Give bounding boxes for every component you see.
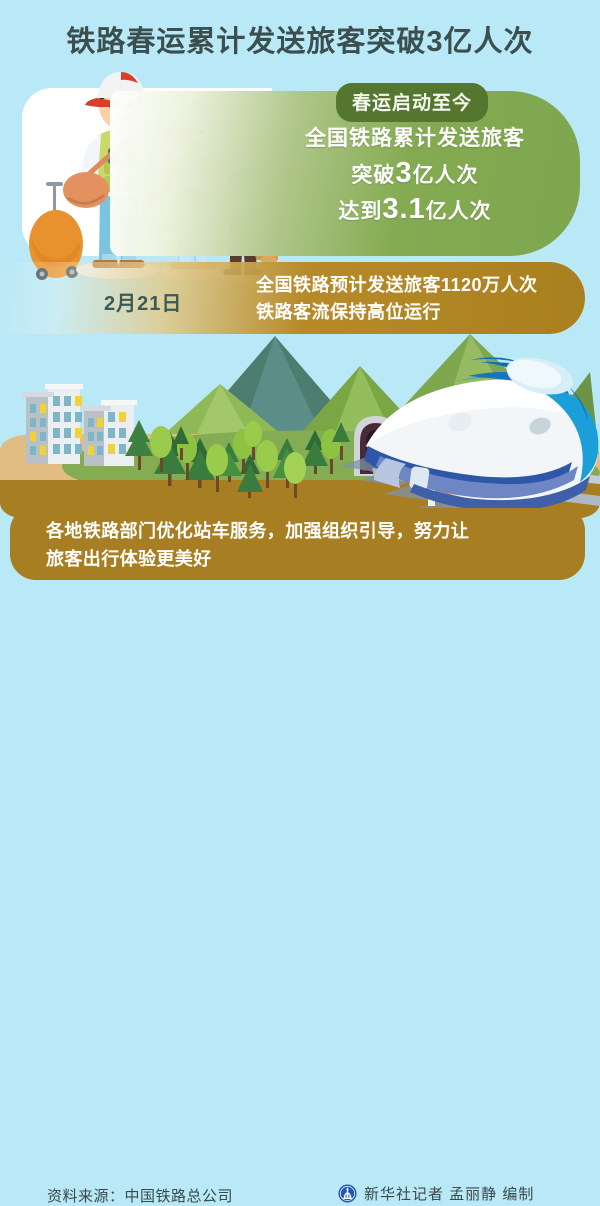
green-card-line2: 突破3亿人次 [250,157,580,190]
green-line3-number: 3.1 [382,193,425,225]
source-label: 资料来源：中国铁路总公司 [47,1185,233,1206]
green-line2-prefix: 突破 [351,164,395,187]
credit-block: 新华社记者 孟丽静 编制 [338,1183,534,1204]
date-card-line1: 全国铁路预计发送旅客1120万人次 [256,272,576,299]
bottom-message-text: 各地铁路部门优化站车服务，加强组织引导，努力让 旅客出行体验更美好 [46,517,566,573]
green-line3-prefix: 达到 [338,200,382,223]
footer: 资料来源：中国铁路总公司 新华社记者 孟丽静 编制 [0,588,600,623]
green-line3-suffix: 亿人次 [426,200,492,223]
date-card-line2: 铁路客流保持高位运行 [256,299,576,326]
xinhua-logo-icon [338,1184,357,1203]
bottom-message-line2: 旅客出行体验更美好 [46,545,566,573]
date-label: 2月21日 [104,287,182,316]
green-line2-suffix: 亿人次 [413,164,479,187]
green-card-line3: 达到3.1亿人次 [250,193,580,226]
green-card-badge: 春运启动至今 [336,83,488,122]
high-speed-train-landscape [0,334,600,520]
infographic-canvas: 铁路春运累计发送旅客突破3亿人次 [0,0,600,623]
green-line2-number: 3 [395,157,412,189]
page-title: 铁路春运累计发送旅客突破3亿人次 [0,18,600,60]
bottom-message-line1: 各地铁路部门优化站车服务，加强组织引导，努力让 [46,517,566,545]
date-card-text: 全国铁路预计发送旅客1120万人次 铁路客流保持高位运行 [256,272,576,326]
green-card-line1: 全国铁路累计发送旅客 [250,122,580,152]
credit-label: 新华社记者 孟丽静 编制 [364,1183,534,1204]
green-card-text: 全国铁路累计发送旅客 突破3亿人次 达到3.1亿人次 [250,122,580,229]
